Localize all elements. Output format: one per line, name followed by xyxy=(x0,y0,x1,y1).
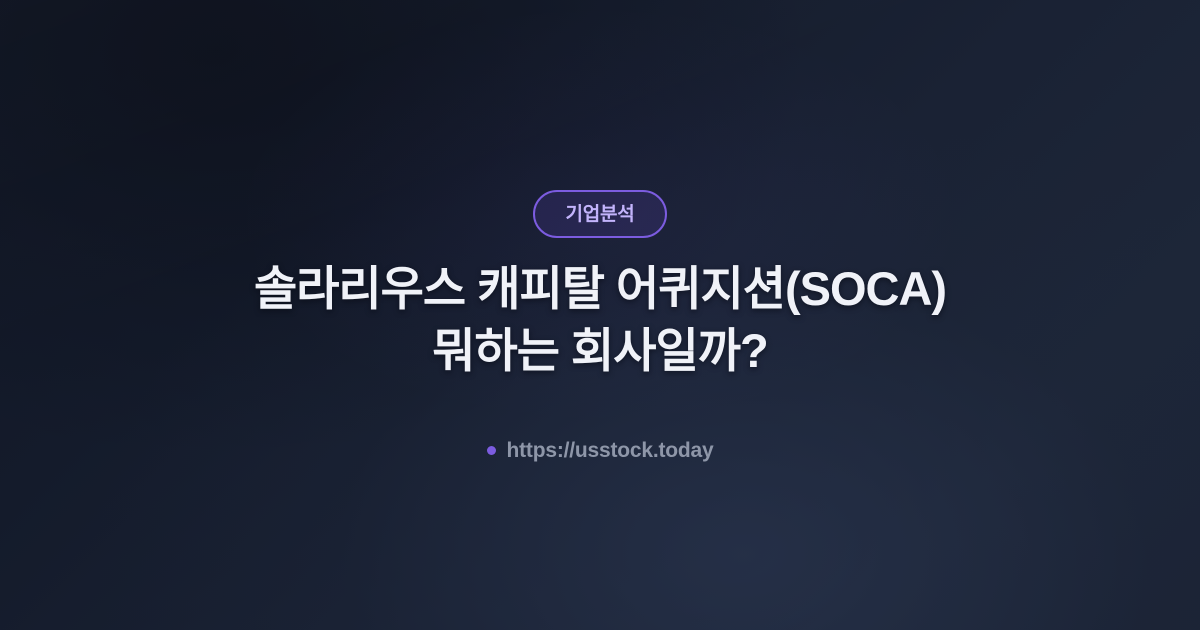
category-badge: 기업분석 xyxy=(533,190,666,238)
category-badge-row: 기업분석 xyxy=(0,190,1200,238)
card-content: 기업분석 솔라리우스 캐피탈 어퀴지션(SOCA) 뭐하는 회사일까? http… xyxy=(0,0,1200,461)
site-url-label: https://usstock.today xyxy=(507,440,714,461)
page-title-line-2: 뭐하는 회사일까? xyxy=(80,320,1120,382)
dot-icon xyxy=(487,446,496,455)
og-share-card: 기업분석 솔라리우스 캐피탈 어퀴지션(SOCA) 뭐하는 회사일까? http… xyxy=(0,0,1200,630)
page-title-line-1: 솔라리우스 캐피탈 어퀴지션(SOCA) xyxy=(80,258,1120,320)
site-url-row: https://usstock.today xyxy=(487,440,714,461)
page-title: 솔라리우스 캐피탈 어퀴지션(SOCA) 뭐하는 회사일까? xyxy=(80,258,1120,382)
